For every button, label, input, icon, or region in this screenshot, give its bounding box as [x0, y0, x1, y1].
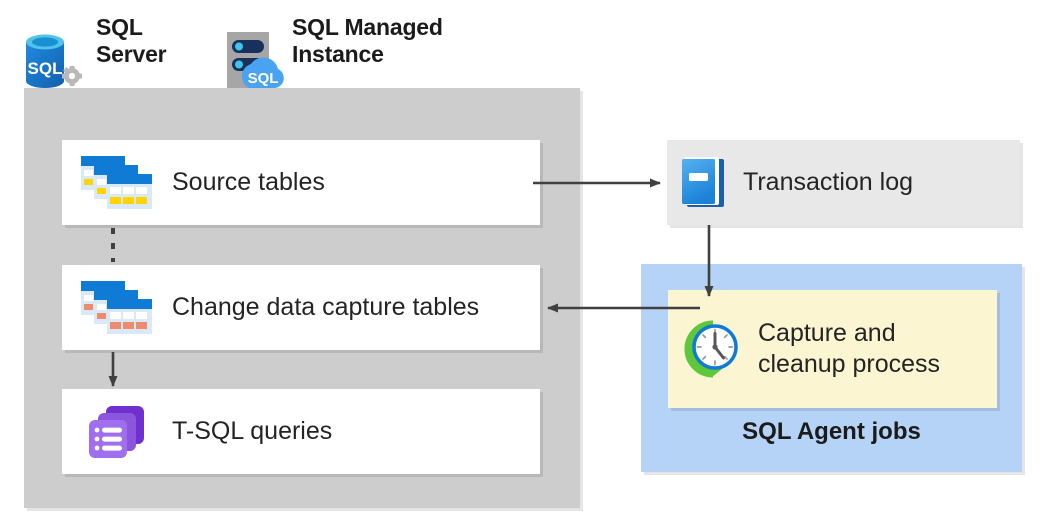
clock-refresh-icon: [668, 318, 758, 380]
sql-managed-instance-header-line1: SQL Managed: [292, 14, 522, 41]
change-data-capture-tables-label: Change data capture tables: [172, 292, 479, 323]
tsql-queries-box[interactable]: T-SQL queries: [62, 389, 540, 474]
source-tables-label: Source tables: [172, 167, 325, 198]
capture-and-cleanup-process-label: Capture and cleanup process: [758, 318, 940, 380]
sql-agent-jobs-title: SQL Agent jobs: [641, 418, 1022, 446]
change-data-capture-tables-box[interactable]: Change data capture tables: [62, 265, 540, 350]
capture-process-line2: cleanup process: [758, 349, 940, 380]
cdc-tables-icon: [62, 278, 172, 338]
tsql-queries-label: T-SQL queries: [172, 416, 332, 447]
transaction-log-box[interactable]: Transaction log: [667, 140, 1020, 225]
capture-process-line1: Capture and: [758, 318, 940, 349]
sql-server-database-icon: SQL: [12, 26, 84, 92]
sql-managed-instance-icon: SQL: [219, 26, 289, 92]
sql-server-header-line1: SQL: [96, 14, 216, 41]
svg-text:SQL: SQL: [248, 70, 279, 87]
transaction-log-book-icon: [667, 154, 743, 212]
svg-text:SQL: SQL: [28, 59, 63, 78]
capture-and-cleanup-process-box[interactable]: Capture and cleanup process: [668, 290, 997, 408]
sql-managed-instance-header-label: SQL Managed Instance: [292, 14, 522, 68]
sql-managed-instance-header-line2: Instance: [292, 41, 522, 68]
sql-server-header-line2: Server: [96, 41, 216, 68]
source-tables-box[interactable]: Source tables: [62, 140, 540, 225]
tsql-queries-icon: [62, 402, 172, 462]
transaction-log-label: Transaction log: [743, 167, 913, 198]
sql-server-header-label: SQL Server: [96, 14, 216, 68]
source-tables-icon: [62, 153, 172, 213]
